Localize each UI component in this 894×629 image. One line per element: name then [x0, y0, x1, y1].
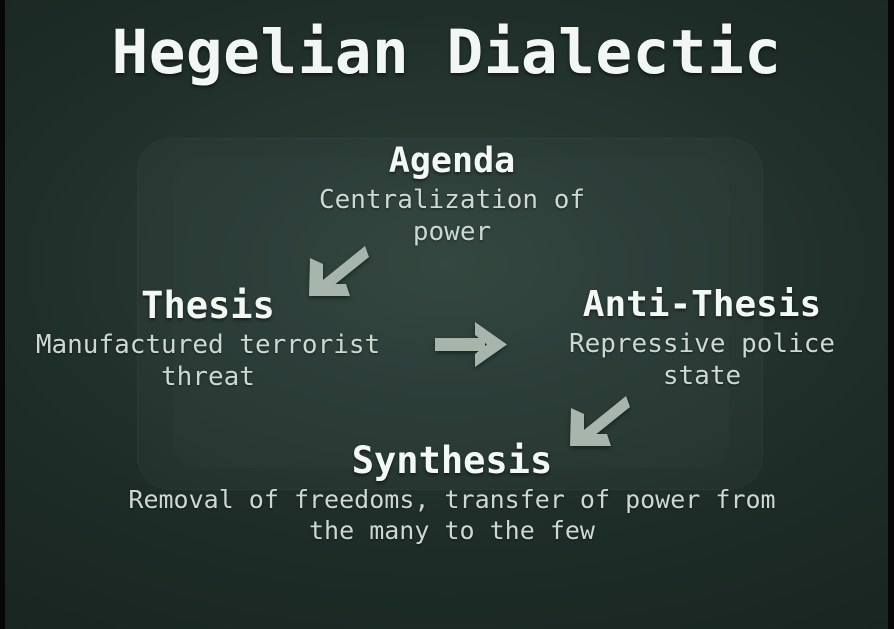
node-anti-thesis-description-line-1: Repressive police [497, 329, 894, 361]
node-synthesis-description: Removal of freedoms, transfer of power f… [52, 485, 852, 546]
arrow-down-left-icon-agenda-to-thesis [303, 244, 369, 306]
node-synthesis-description-line-1: Removal of freedoms, transfer of power f… [52, 485, 852, 516]
node-synthesis-description-line-2: the many to the few [52, 516, 852, 547]
node-thesis-description-line-2: threat [3, 362, 413, 394]
node-synthesis-title: Synthesis [52, 440, 852, 481]
node-anti-thesis-title: Anti-Thesis [497, 285, 894, 325]
node-agenda-description-line-1: Centralization of [232, 185, 672, 217]
node-agenda-title: Agenda [232, 142, 672, 181]
node-agenda-description: Centralization of power [232, 185, 672, 248]
node-synthesis: Synthesis Removal of freedoms, transfer … [52, 440, 852, 546]
node-anti-thesis-description: Repressive police state [497, 329, 894, 392]
node-agenda: Agenda Centralization of power [232, 142, 672, 249]
node-agenda-description-line-2: power [232, 217, 672, 249]
node-anti-thesis: Anti-Thesis Repressive police state [497, 285, 894, 393]
node-thesis-description: Manufactured terrorist threat [3, 330, 413, 393]
arrow-right-icon-thesis-to-anti-thesis [435, 321, 509, 369]
arrow-down-left-icon-anti-thesis-to-synthesis [564, 394, 630, 456]
node-thesis-description-line-1: Manufactured terrorist [3, 330, 413, 362]
hegelian-dialectic-poster: Hegelian Dialectic Agenda Centralization… [0, 0, 894, 629]
page-title: Hegelian Dialectic [5, 17, 888, 88]
node-anti-thesis-description-line-2: state [497, 361, 894, 393]
